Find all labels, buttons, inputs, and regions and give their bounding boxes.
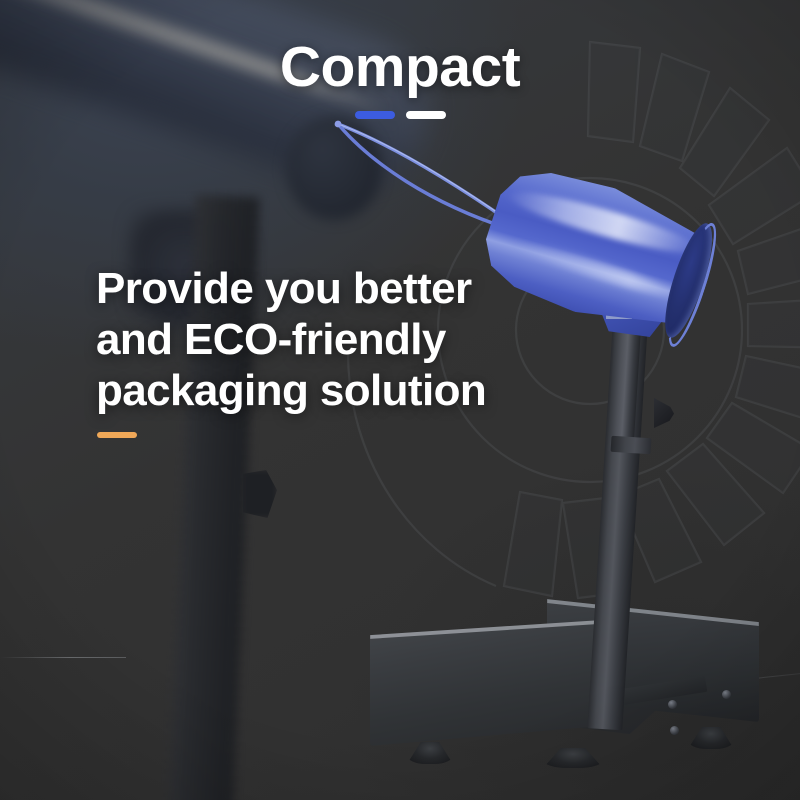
rubber-foot: [543, 748, 603, 768]
support-column-joint: [611, 436, 652, 454]
rubber-foot: [407, 742, 453, 764]
base-front-panel: [370, 620, 602, 746]
base-bolt: [670, 726, 679, 735]
support-column-tab: [654, 398, 674, 428]
headline-line-1: Provide you better: [96, 263, 486, 314]
base-bolt: [722, 690, 731, 699]
headline-line-3: packaging solution: [96, 365, 486, 416]
blue-funnel-nozzle: [467, 153, 715, 344]
promo-banner: Compact Provide you better and ECO-frien…: [0, 0, 800, 800]
blue-dash: [355, 111, 395, 119]
eyebrow-title: Compact: [0, 39, 800, 96]
rubber-foot: [688, 727, 734, 749]
white-dash: [406, 111, 446, 119]
base-bolt: [668, 700, 677, 709]
headline: Provide you better and ECO-friendly pack…: [96, 263, 486, 416]
divider-dashes: [0, 111, 800, 119]
orange-accent-bar: [97, 432, 137, 438]
headline-line-2: and ECO-friendly: [96, 314, 486, 365]
